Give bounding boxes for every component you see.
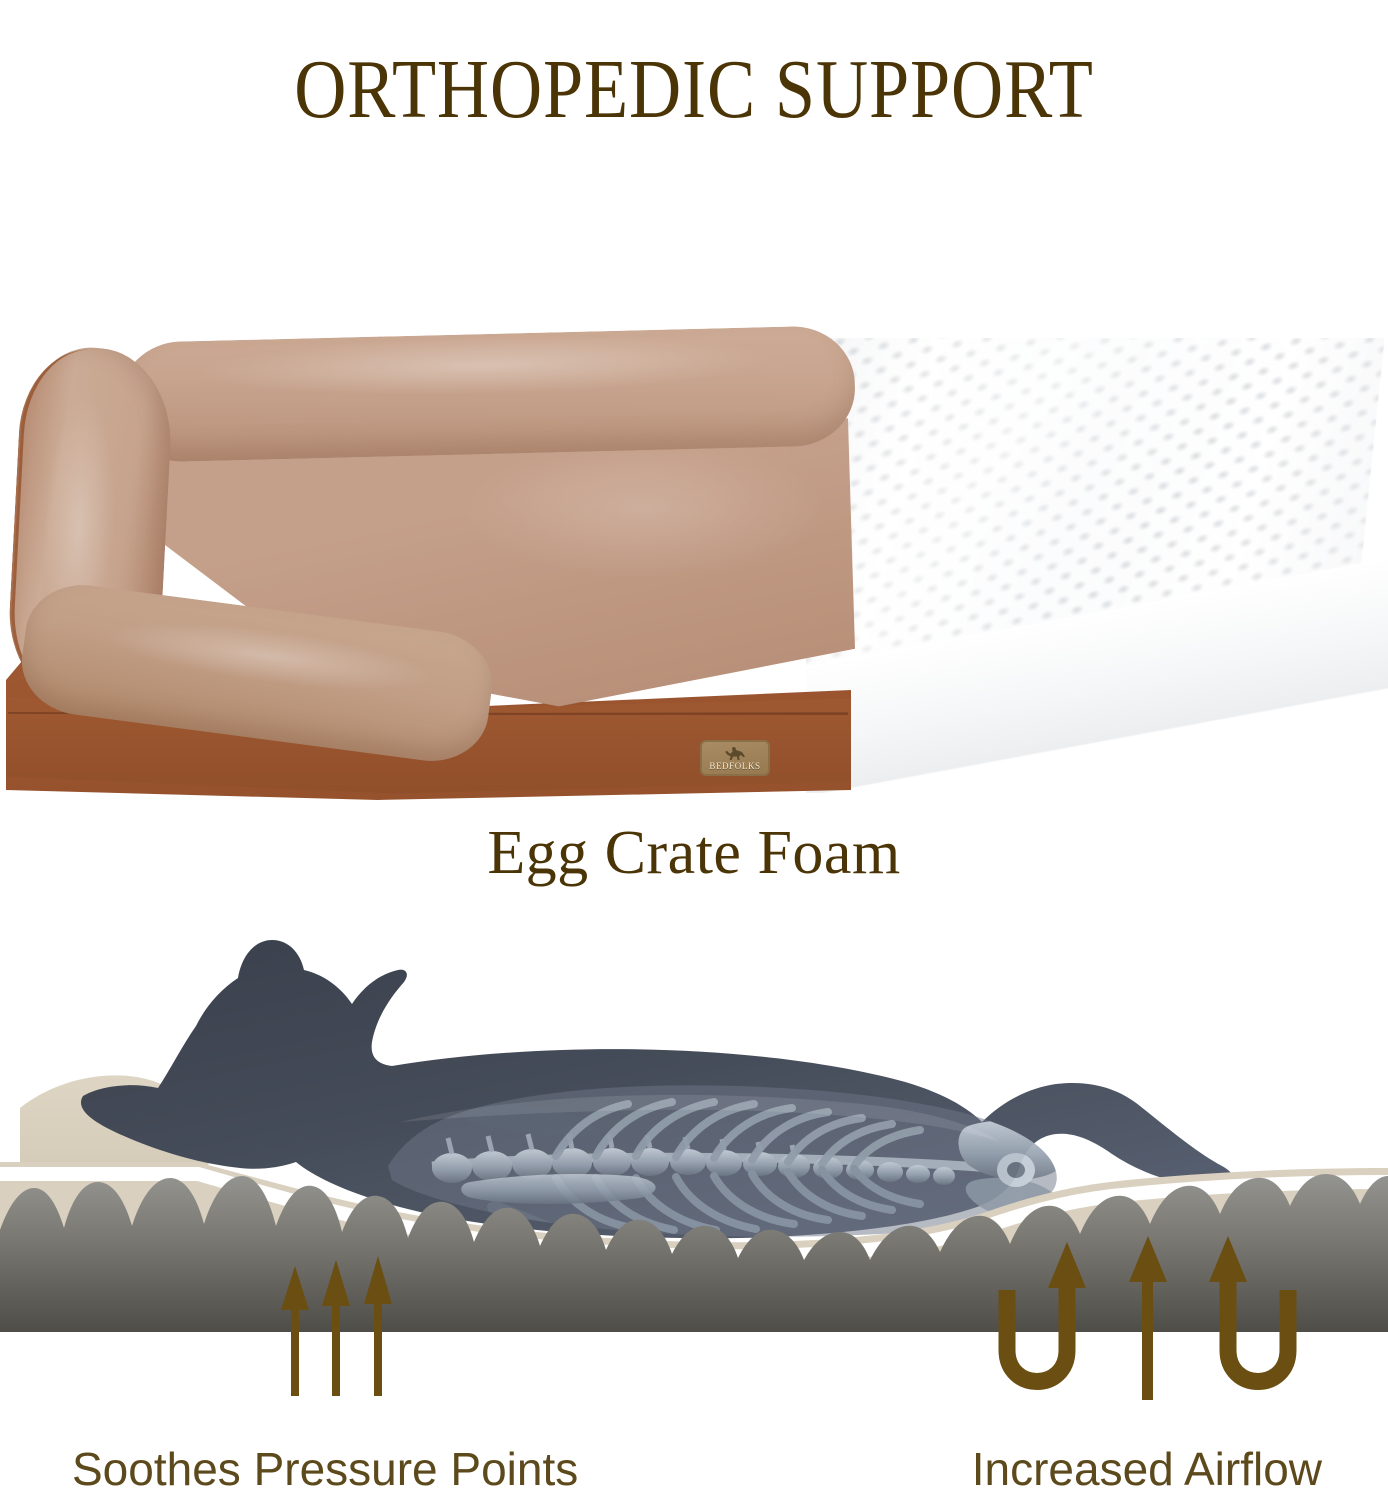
page-title: ORTHOPEDIC SUPPORT — [97, 48, 1291, 132]
egg-crate-foam-slab — [806, 338, 1388, 793]
dog-bed-product — [0, 320, 880, 800]
pressure-point-arrows — [281, 1256, 392, 1396]
product-photo-band — [0, 320, 1388, 810]
brand-tag: BEDFOLKS — [700, 740, 770, 776]
bolster-back — [119, 325, 857, 463]
infographic-page: ORTHOPEDIC SUPPORT BEDFOLKS — [0, 0, 1388, 1500]
label-increased-airflow: Increased Airflow — [972, 1442, 1322, 1496]
foam-caption: Egg Crate Foam — [0, 818, 1388, 889]
brand-logo-icon — [722, 746, 748, 768]
label-soothes-pressure-points: Soothes Pressure Points — [72, 1442, 578, 1496]
cross-section-diagram — [0, 930, 1388, 1410]
